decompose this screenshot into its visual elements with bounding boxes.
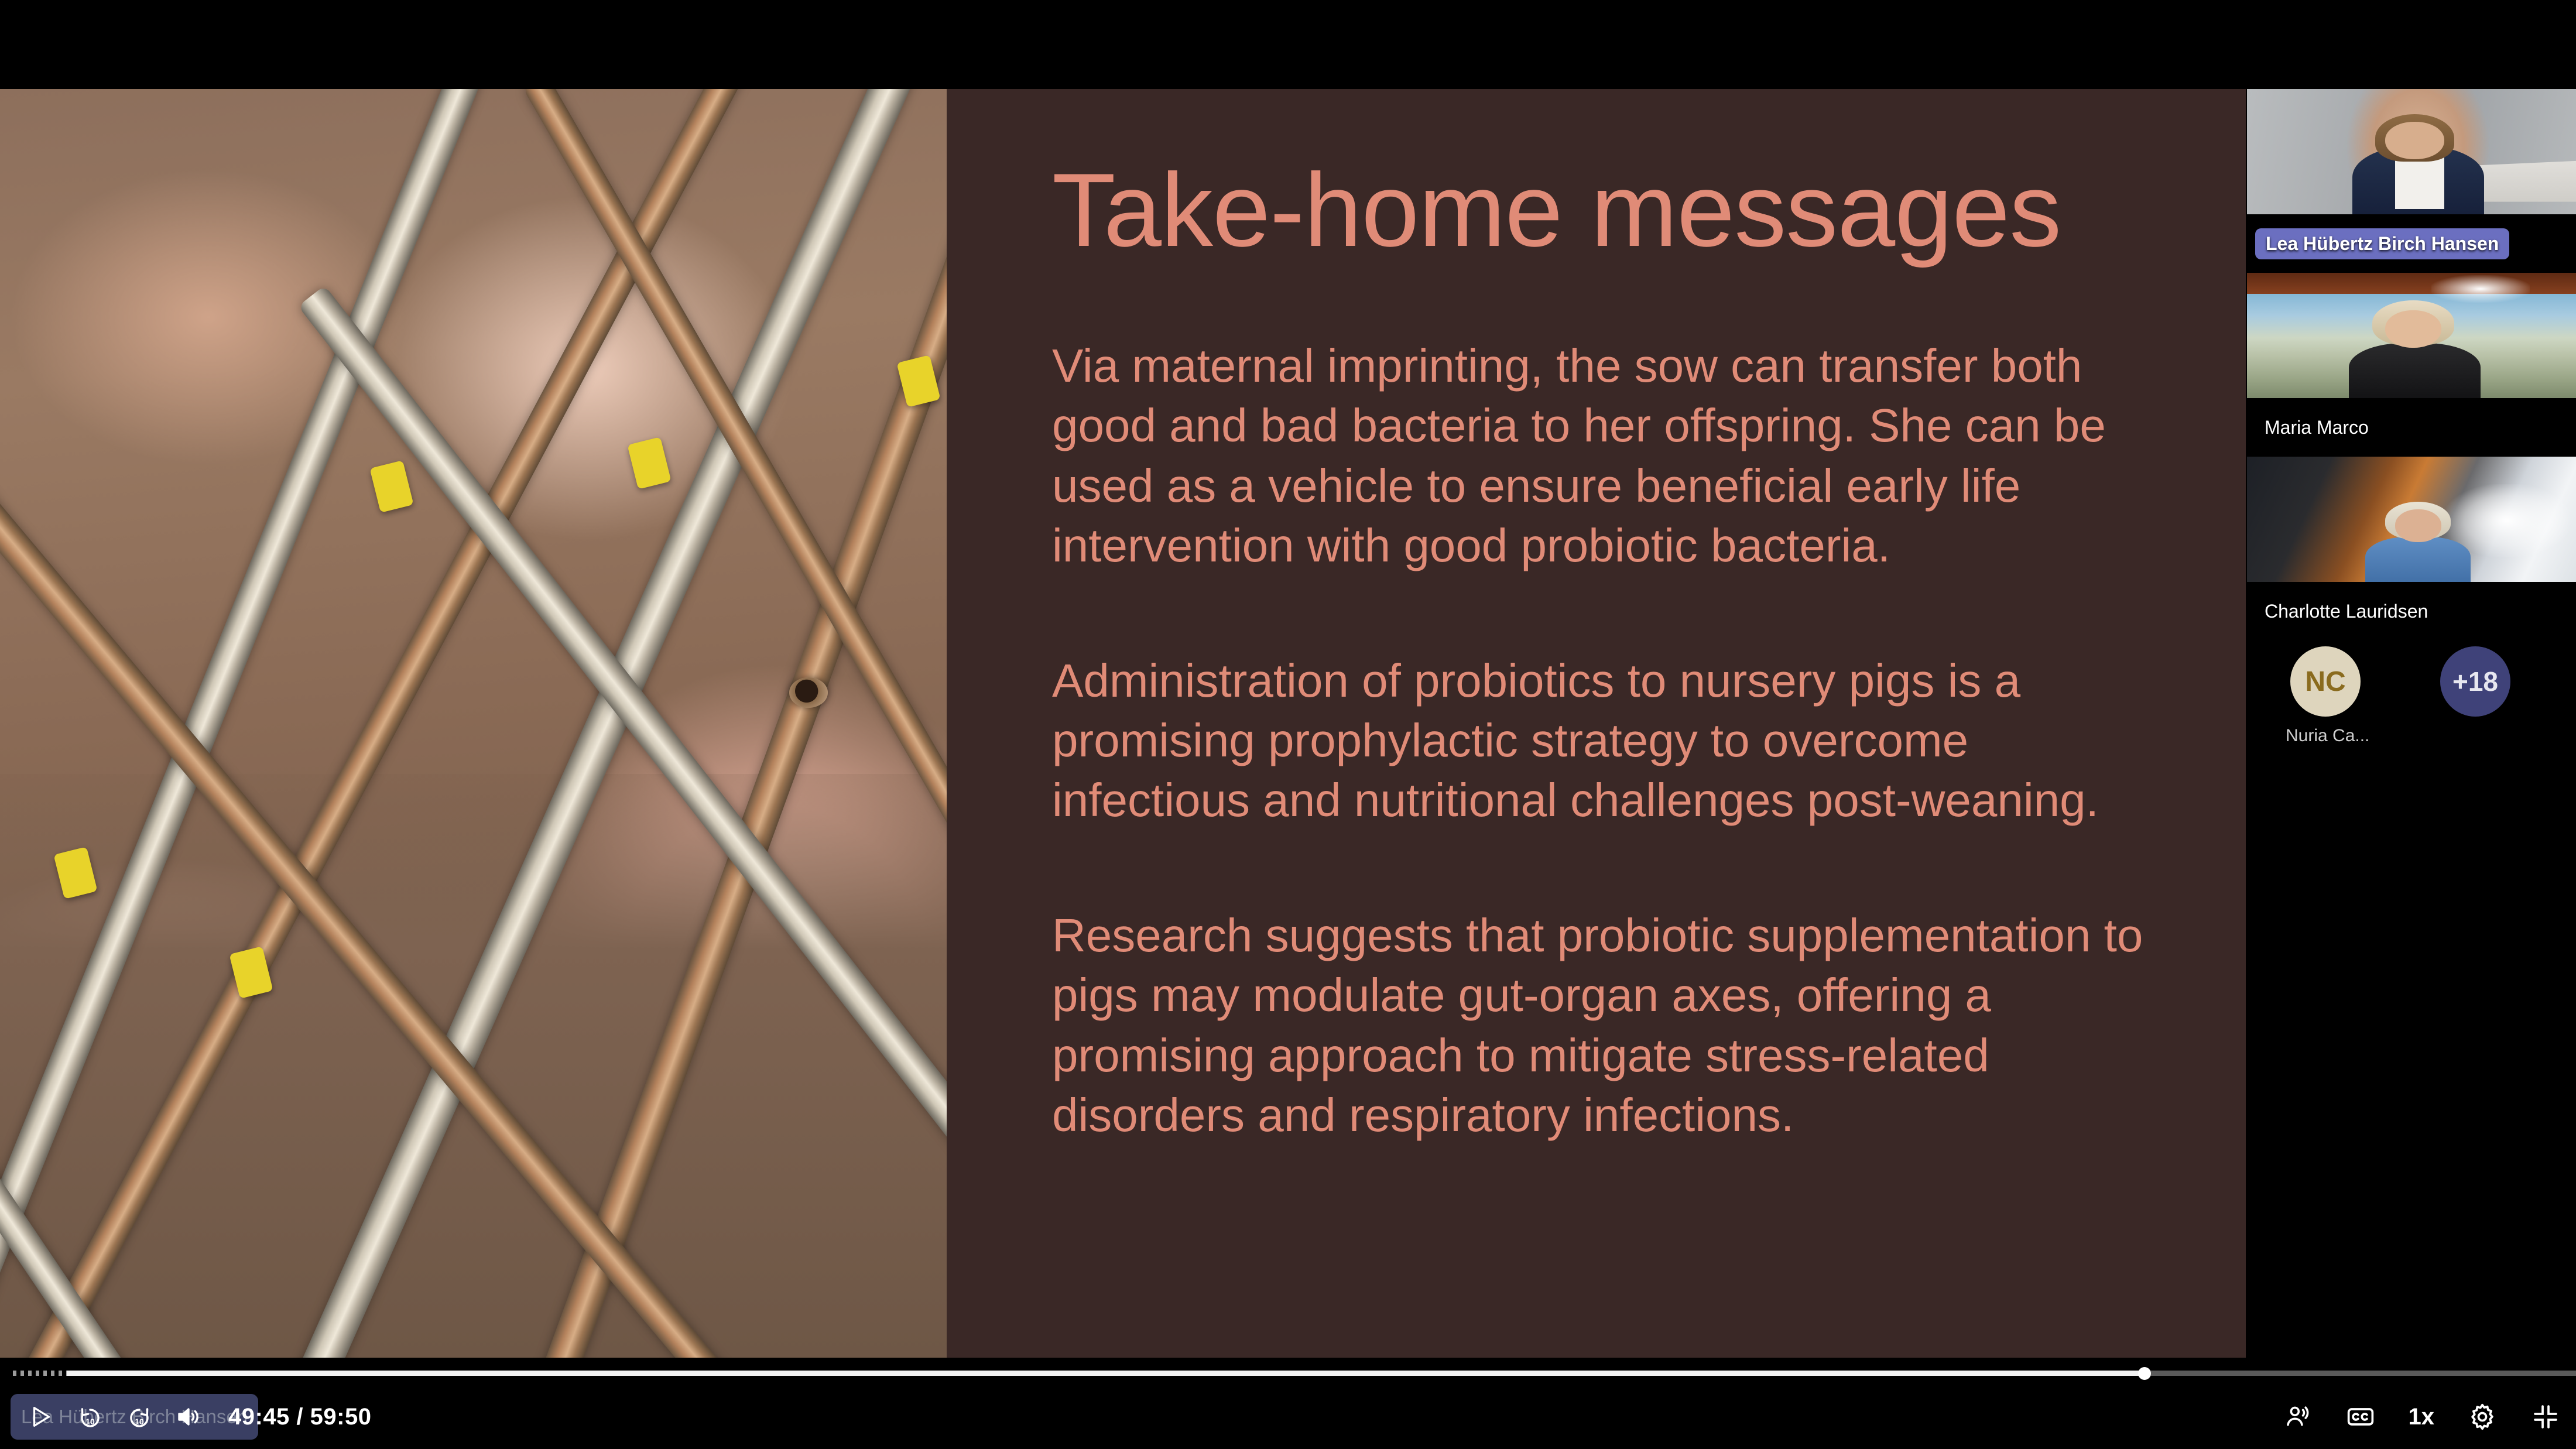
video-player-stage: Take-home messages Via maternal imprinti… bbox=[0, 0, 2576, 1449]
player-right-controls: 1x bbox=[2282, 1396, 2561, 1437]
person-head bbox=[2395, 509, 2441, 542]
time-display: 49:45 / 59:50 bbox=[228, 1404, 371, 1430]
progress-bar[interactable] bbox=[0, 1366, 2576, 1380]
participant-name-charlotte: Charlotte Lauridsen bbox=[2255, 601, 2437, 622]
exit-fullscreen-icon[interactable] bbox=[2530, 1402, 2561, 1432]
pig-eye bbox=[789, 677, 828, 708]
participant-name-badge-lea: Lea Hübertz Birch Hansen bbox=[2255, 228, 2509, 259]
participant-video-charlotte bbox=[2247, 457, 2576, 582]
progress-fill bbox=[67, 1371, 2145, 1376]
forward-10-icon[interactable]: 10 bbox=[123, 1400, 156, 1433]
participant-video-lea bbox=[2247, 89, 2576, 214]
avatar-overflow-count[interactable]: +18 bbox=[2440, 646, 2510, 717]
avatar-nuria[interactable]: NC bbox=[2290, 646, 2361, 717]
slide-paragraph-1: Via maternal imprinting, the sow can tra… bbox=[1052, 336, 2158, 576]
playback-speed-button[interactable]: 1x bbox=[2409, 1404, 2435, 1430]
ear-tag bbox=[627, 437, 671, 489]
slide-paragraph-2: Administration of probiotics to nursery … bbox=[1052, 651, 2158, 831]
person-body bbox=[2365, 537, 2471, 582]
participant-tile-charlotte[interactable]: Charlotte Lauridsen bbox=[2247, 457, 2576, 640]
slide-photo-pigs bbox=[0, 89, 947, 1358]
gear-icon[interactable] bbox=[2467, 1402, 2498, 1432]
person-head bbox=[2385, 310, 2441, 348]
lens-flare bbox=[2431, 275, 2530, 303]
progress-scrubber-handle[interactable] bbox=[2138, 1367, 2151, 1380]
volume-icon[interactable] bbox=[172, 1400, 205, 1433]
participant-rail: Lea Hübertz Birch Hansen Maria Marco bbox=[2247, 89, 2576, 1358]
participant-tile-maria[interactable]: Maria Marco bbox=[2247, 273, 2576, 457]
slide-text-panel: Take-home messages Via maternal imprinti… bbox=[947, 89, 2246, 1358]
person-head bbox=[2385, 122, 2444, 159]
participant-name-maria: Maria Marco bbox=[2255, 417, 2378, 439]
slide-title: Take-home messages bbox=[1052, 158, 2158, 262]
speaker-person-icon[interactable] bbox=[2282, 1402, 2313, 1432]
progress-chapter-markers bbox=[13, 1371, 67, 1376]
player-left-controls: 10 10 49:45 / 59:50 bbox=[11, 1396, 385, 1437]
svg-text:10: 10 bbox=[85, 1417, 95, 1426]
participant-video-maria bbox=[2247, 273, 2576, 398]
play-icon[interactable] bbox=[25, 1400, 57, 1433]
ear-tag bbox=[369, 460, 413, 513]
avatar-nuria-label: Nuria Ca... bbox=[2286, 726, 2369, 746]
participant-tile-lea[interactable]: Lea Hübertz Birch Hansen bbox=[2247, 89, 2576, 273]
person-body bbox=[2349, 343, 2481, 398]
rewind-10-icon[interactable]: 10 bbox=[74, 1400, 107, 1433]
overflow-avatars-row: NC +18 Nuria Ca... bbox=[2247, 640, 2576, 775]
closed-captions-icon[interactable] bbox=[2345, 1402, 2376, 1432]
presentation-slide: Take-home messages Via maternal imprinti… bbox=[0, 89, 2246, 1358]
svg-text:10: 10 bbox=[135, 1417, 144, 1426]
slide-paragraph-3: Research suggests that probiotic supplem… bbox=[1052, 906, 2158, 1146]
player-control-bar: Lea Hübertz Birch Hansen 10 10 bbox=[0, 1358, 2576, 1449]
progress-track[interactable] bbox=[67, 1371, 2576, 1376]
